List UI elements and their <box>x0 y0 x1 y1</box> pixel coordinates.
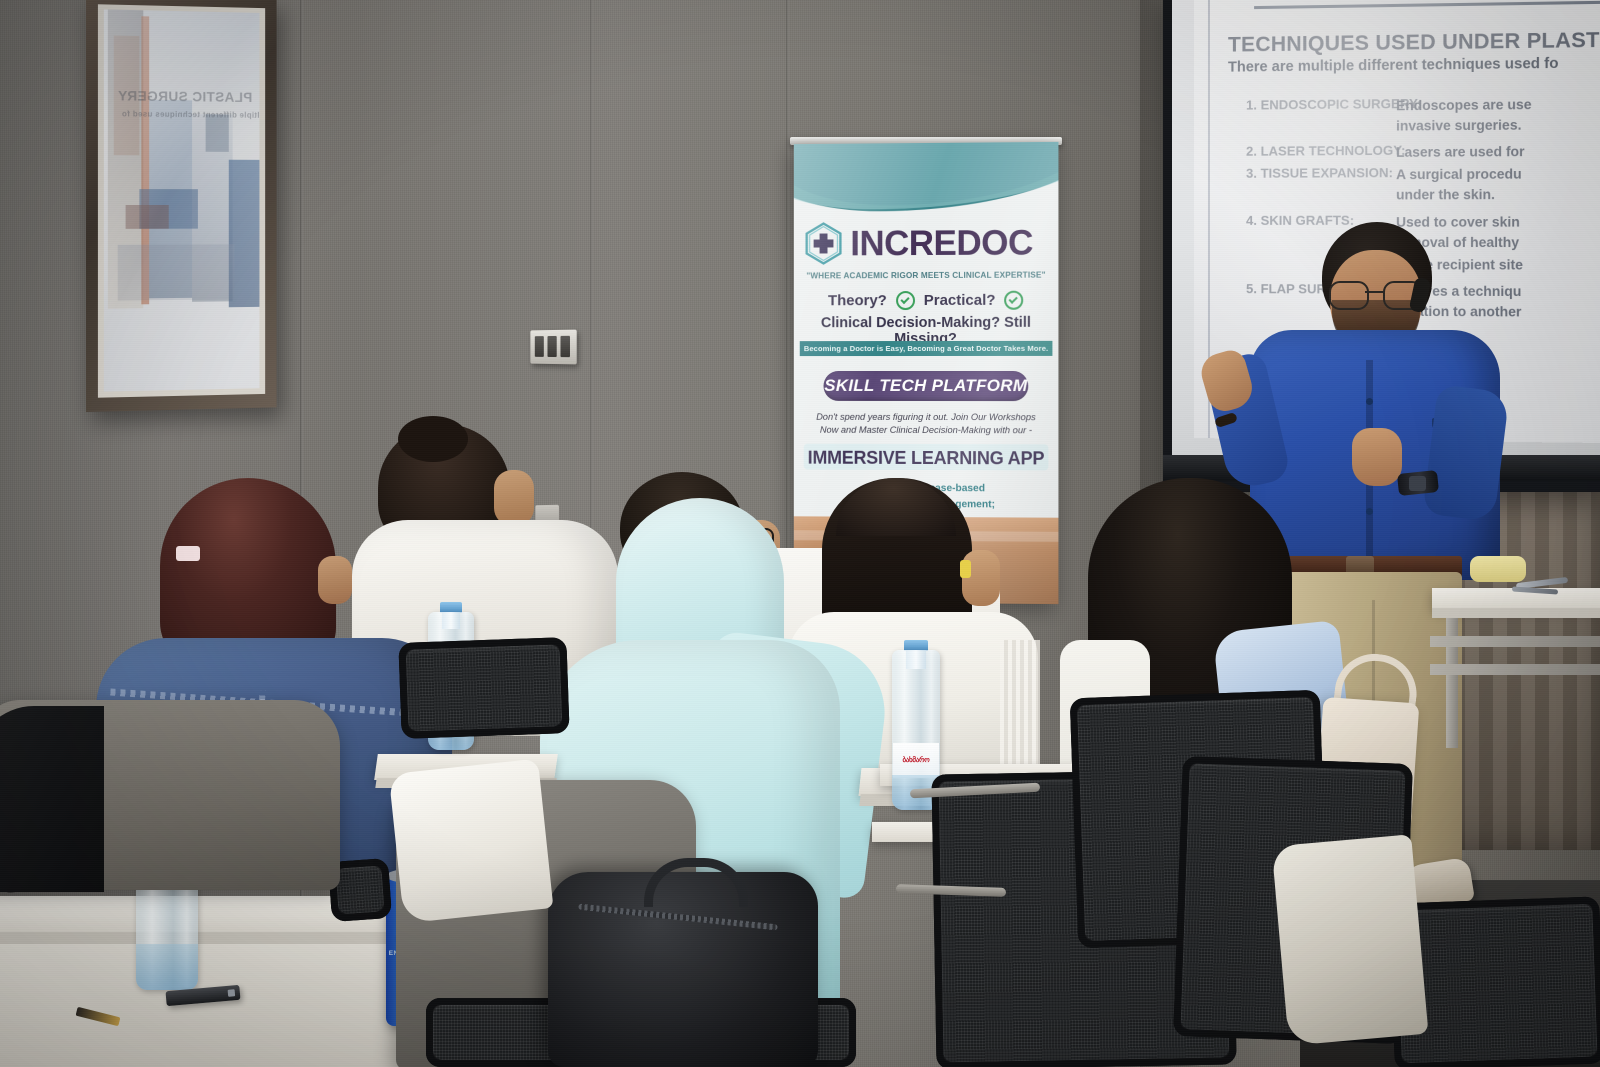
white-coat-draped <box>389 759 554 924</box>
glass-reflection <box>104 9 260 391</box>
attendee-earring <box>960 560 971 578</box>
backpack-zipper <box>578 904 778 931</box>
artwork-canvas: PLASTIC SURGERY There are multiple diffe… <box>104 9 260 391</box>
slide-header-cutoff: PLASTIC SURGERY <box>1254 0 1600 9</box>
banner-brand-name: INCREDOC <box>850 225 1033 261</box>
chair-mid-left[interactable] <box>398 637 569 739</box>
bottle-label-2: ბახმარო <box>893 743 939 778</box>
reflected-slide-title: PLASTIC SURGERY <box>118 87 253 105</box>
slide-row-3-value: A surgical procedu <box>1396 164 1522 184</box>
check-circle-icon-2 <box>1005 291 1024 310</box>
banner-question-row: Theory? Practical? <box>794 291 1059 311</box>
banner-app-heading: IMMERSIVE LEARNING APP <box>794 448 1059 470</box>
draped-cloth <box>1272 834 1429 1045</box>
banner-tagline: "WHERE ACADEMIC RIGOR MEETS CLINICAL EXP… <box>794 270 1059 280</box>
instrument-table-rail-1 <box>1430 636 1600 647</box>
slide-row-3-cont: under the skin. <box>1396 187 1495 203</box>
instrument-table-rail-2 <box>1430 664 1600 675</box>
bottle-neck-1 <box>442 612 460 629</box>
banner-subtext-line2: Now and Master Clinical Decision-Making … <box>800 424 1053 438</box>
banner-platform-pill: SKILL TECH PLATFORM <box>824 371 1029 401</box>
slide-row-3-label: 3. TISSUE EXPANSION: <box>1246 165 1396 185</box>
hair-clip <box>176 546 200 561</box>
framed-artwork: PLASTIC SURGERY There are multiple diffe… <box>86 0 277 412</box>
slide-row-2-label: 2. LASER TECHNOLOGY: <box>1246 143 1396 163</box>
check-circle-icon <box>896 291 915 310</box>
banner-question-practical: Practical? <box>924 292 996 309</box>
bottle-neck-2 <box>906 650 925 669</box>
banner-logo: INCREDOC <box>804 220 1050 265</box>
slide-row-3: 3. TISSUE EXPANSION: A surgical procedu <box>1246 163 1600 184</box>
slide-title: TECHNIQUES USED UNDER PLASTIC S <box>1228 28 1600 58</box>
slide-subtitle: There are multiple different techniques … <box>1228 54 1600 75</box>
slide-row-2: 2. LASER TECHNOLOGY: Lasers are used for <box>1246 141 1600 163</box>
slide-row-1-cont: invasive surgeries. <box>1396 117 1521 133</box>
slide-row-2-value: Lasers are used for <box>1396 142 1525 162</box>
presenter-right-hand <box>1352 428 1402 486</box>
instrument-table-edge <box>1432 608 1600 618</box>
medical-cross-hexagon-icon <box>804 221 844 265</box>
slide-row-1: 1. ENDOSCOPIC SURGERY: Endoscopes are us… <box>1246 93 1600 116</box>
slide-row-4-value: Used to cover skin <box>1396 212 1520 232</box>
light-switch-panel[interactable] <box>530 330 576 365</box>
slide-row-1-label: 1. ENDOSCOPIC SURGERY: <box>1246 96 1396 117</box>
banner-subtext-line1: Don't spend years figuring it out. Join … <box>800 411 1053 425</box>
slide-row-4: 4. SKIN GRAFTS: Used to cover skin <box>1246 212 1600 232</box>
chair-rim-mid-left <box>398 637 569 739</box>
grey-chair-left-arm <box>0 706 104 892</box>
bottle-water-3 <box>136 944 198 990</box>
workshop-photo: PLASTIC SURGERY There are multiple diffe… <box>0 0 1600 1067</box>
banner-strip-text: Becoming a Doctor is Easy, Becoming a Gr… <box>800 341 1053 356</box>
banner-question-theory: Theory? <box>828 292 887 309</box>
banner-wave-light <box>794 142 1059 210</box>
gauze-pack <box>1470 556 1526 582</box>
artwork-mat: PLASTIC SURGERY There are multiple diffe… <box>98 4 265 397</box>
banner-subtext: Don't spend years figuring it out. Join … <box>800 411 1053 438</box>
slide-row-1-value: Endoscopes are use <box>1396 95 1532 116</box>
